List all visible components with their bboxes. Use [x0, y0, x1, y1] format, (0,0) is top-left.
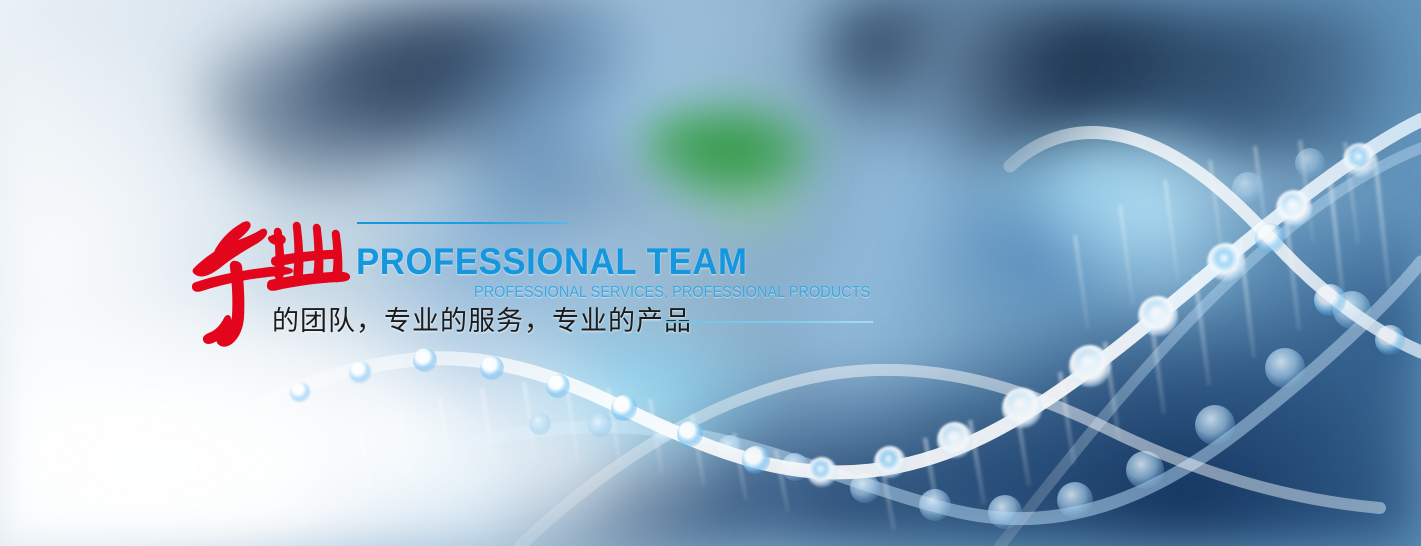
- bottom-divider-rule: [663, 321, 873, 323]
- page-subtitle: PROFESSIONAL SERVICES, PROFESSIONAL PROD…: [474, 285, 870, 301]
- page-title: PROFESSIONAL TEAM: [356, 243, 748, 280]
- top-divider-rule: [357, 222, 569, 224]
- red-calligraphy-zhuanye: [186, 206, 351, 354]
- banner-text-block: PROFESSIONAL TEAM PROFESSIONAL SERVICES,…: [0, 0, 1421, 546]
- professional-team-banner: PROFESSIONAL TEAM PROFESSIONAL SERVICES,…: [0, 0, 1421, 546]
